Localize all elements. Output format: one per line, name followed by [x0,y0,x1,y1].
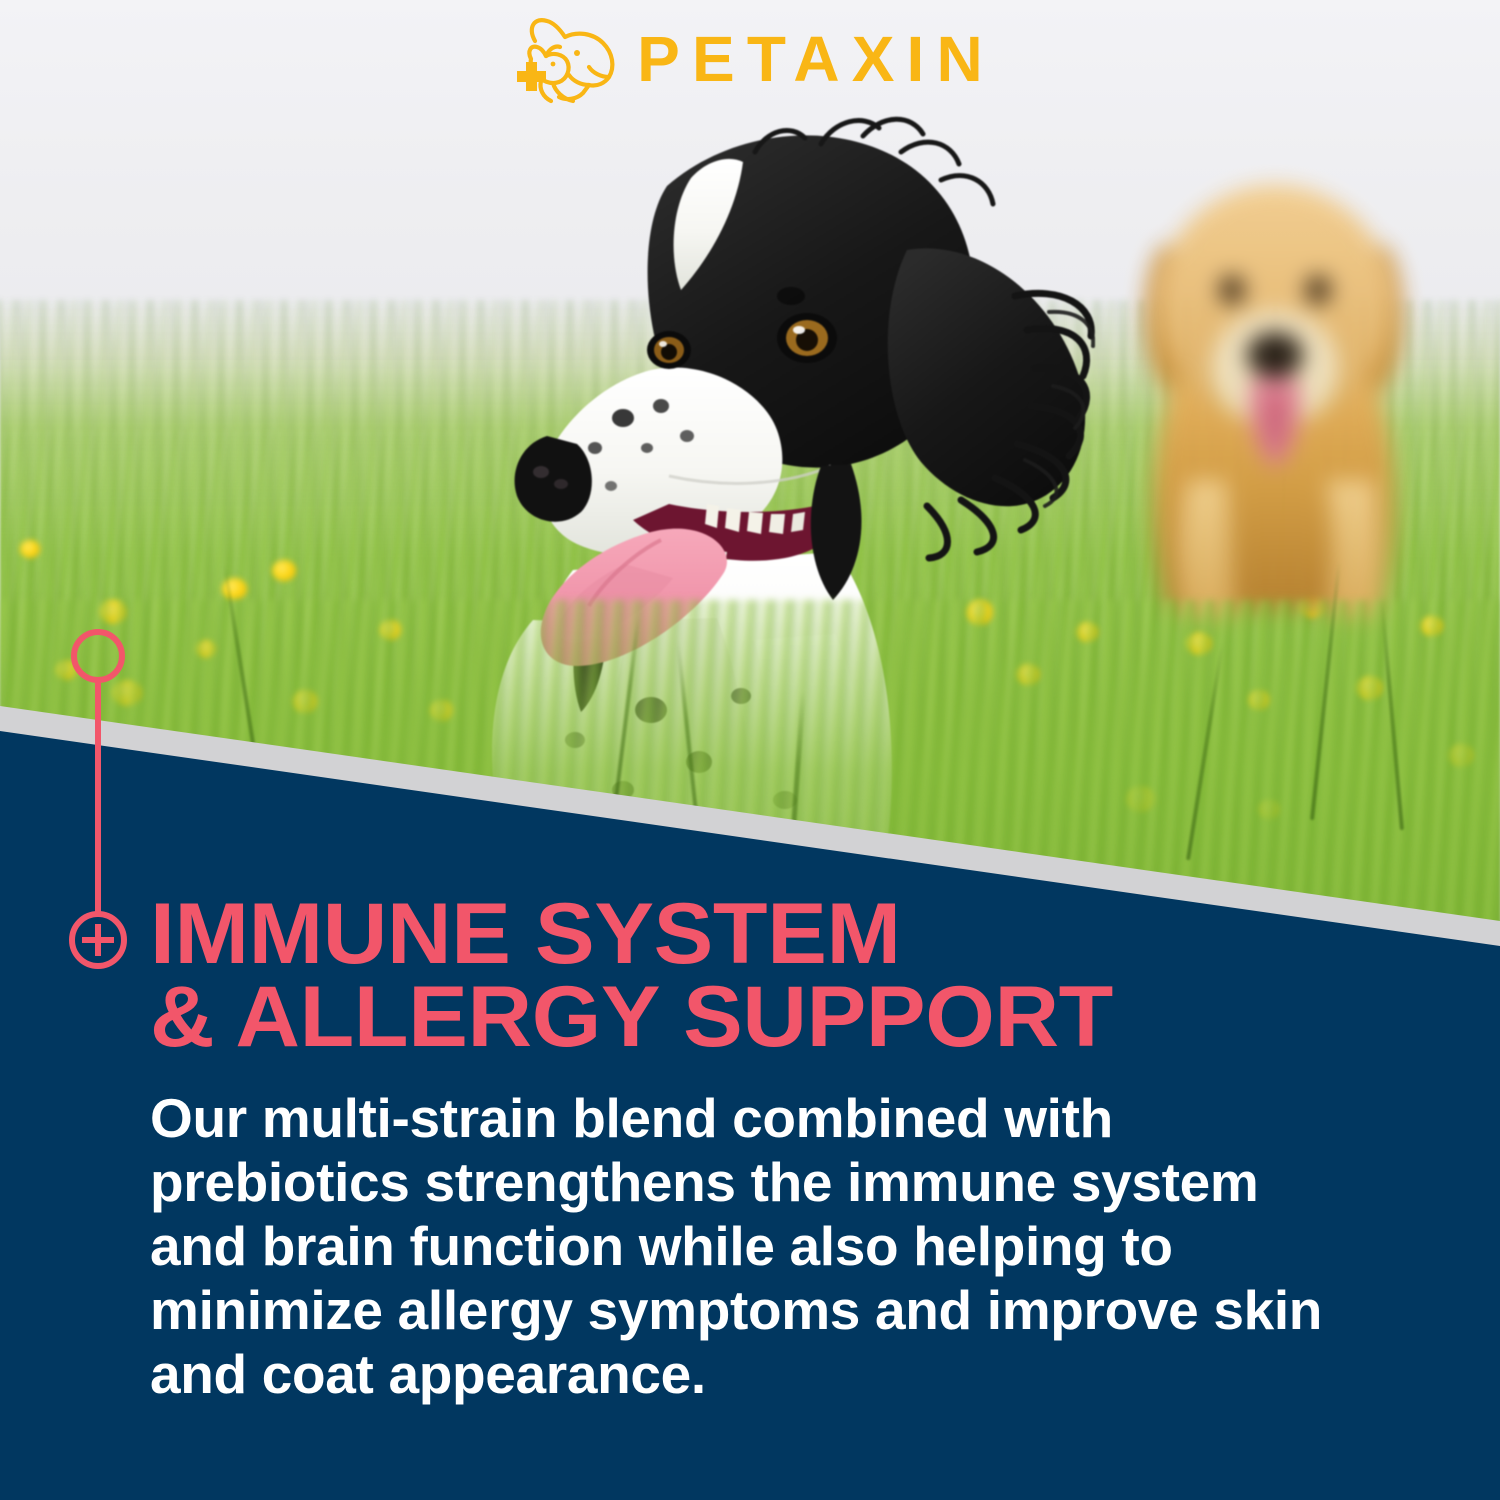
flower-icon [272,560,296,581]
circle-outline-icon [74,632,122,680]
body-paragraph: Our multi-strain blend combined with pre… [150,1086,1365,1406]
flower-icon [20,540,40,558]
copy-block: IMMUNE SYSTEM & ALLERGY SUPPORT Our mult… [150,893,1380,1406]
headline: IMMUNE SYSTEM & ALLERGY SUPPORT [150,893,1429,1060]
product-feature-card: PETAXIN IMMUNE SYSTEM & ALLERGY SUPPORT … [0,0,1500,1500]
background-dog-golden-retriever [1080,150,1470,620]
callout-marker [66,628,130,968]
